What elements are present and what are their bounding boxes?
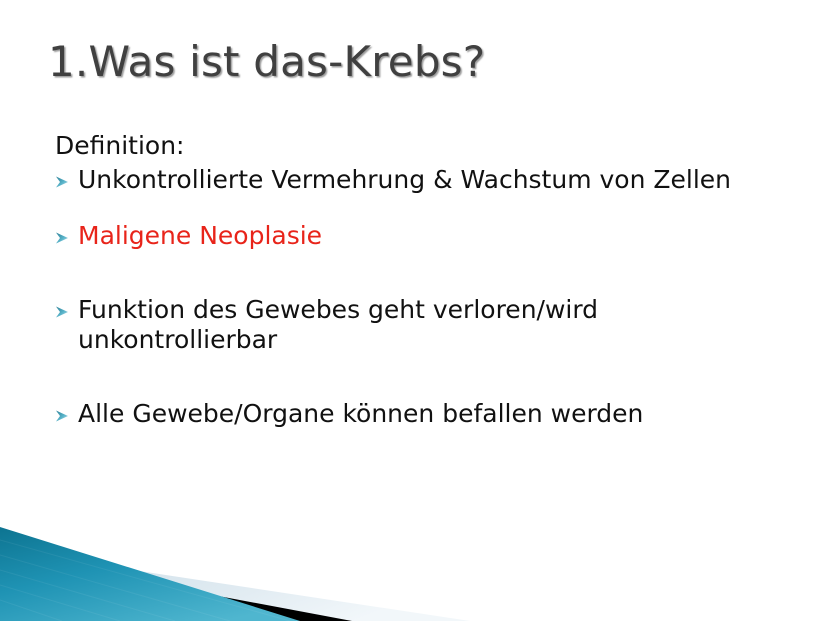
list-item-label: Unkontrollierte Vermehrung & Wachstum vo…: [78, 165, 794, 195]
list-item: Funktion des Gewebes geht verloren/wird …: [54, 295, 794, 355]
arrow-bullet-icon: [54, 399, 80, 424]
definition-label: Definition:: [54, 131, 794, 162]
spacer: [54, 195, 794, 221]
slide-body: Definition: Unkontrollierte Vermehrung &…: [54, 131, 794, 429]
list-item: Alle Gewebe/Organe können befallen werde…: [54, 399, 794, 429]
decorative-diagonal-bands: [0, 500, 828, 621]
list-item: Maligene Neoplasie: [54, 221, 794, 251]
spacer: [54, 355, 794, 399]
arrow-bullet-icon: [54, 165, 80, 190]
list-item: Unkontrollierte Vermehrung & Wachstum vo…: [54, 165, 794, 195]
list-item-label: Maligene Neoplasie: [78, 221, 794, 251]
list-item-label: Funktion des Gewebes geht verloren/wird …: [78, 295, 794, 355]
spacer: [54, 251, 794, 295]
arrow-bullet-icon: [54, 295, 80, 320]
arrow-bullet-icon: [54, 221, 80, 246]
page-title: 1.Was ist das-Krebs?: [48, 37, 485, 86]
slide: 1.Was ist das-Krebs? Definition: Unkontr…: [0, 0, 828, 621]
list-item-label: Alle Gewebe/Organe können befallen werde…: [78, 399, 794, 429]
